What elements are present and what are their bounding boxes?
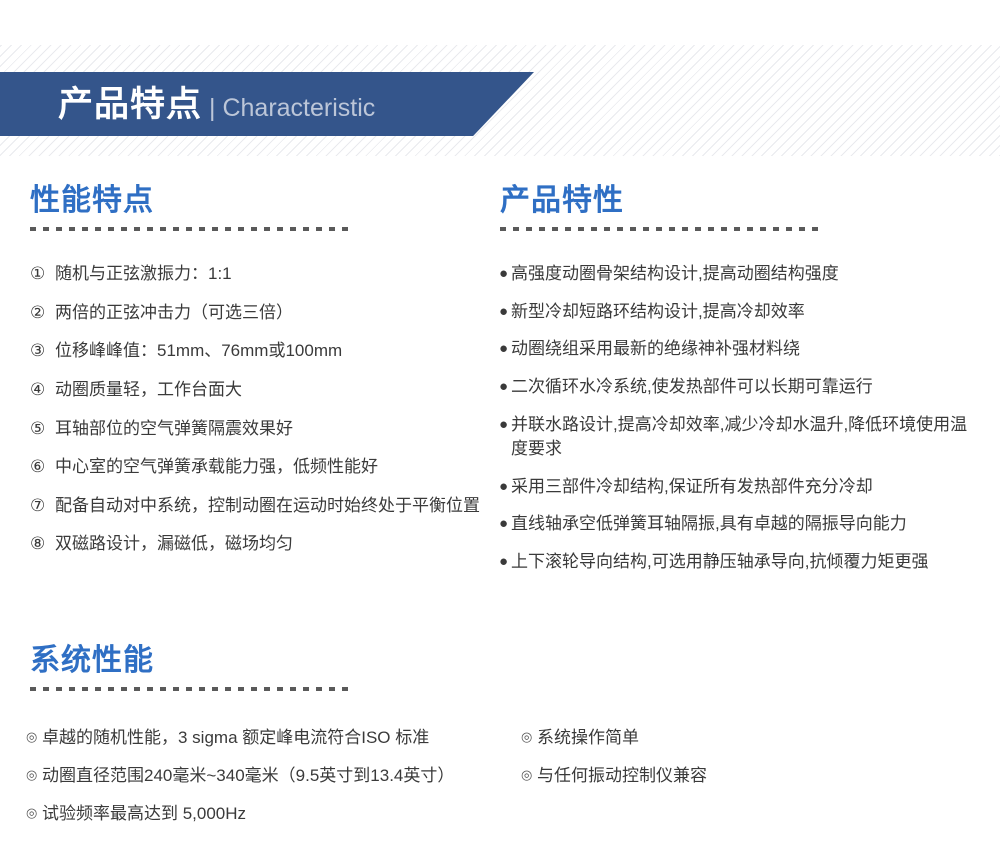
list-marker: ④ (30, 378, 55, 403)
banner-title-group: 产品特点 | Characteristic (0, 87, 375, 122)
list-item: ⑧ 双磁路设计，漏磁低，磁场均匀 (30, 532, 485, 557)
bullet-icon: ● (499, 300, 511, 323)
list-item-text: 位移峰峰值：51mm、76mm或100mm (55, 339, 485, 364)
list-marker: ① (30, 262, 55, 287)
list-item: ② 两倍的正弦冲击力（可选三倍） (30, 301, 485, 326)
list-item-text: 中心室的空气弹簧承载能力强，低频性能好 (55, 455, 485, 480)
list-item-text: 随机与正弦激振力：1:1 (55, 262, 485, 287)
system-performance-list: ◎ 卓越的随机性能，3 sigma 额定峰电流符合ISO 标准 ◎ 系统操作简单… (26, 726, 966, 839)
bullet-icon: ● (499, 550, 511, 573)
list-item-text: 动圈质量轻，工作台面大 (55, 378, 485, 403)
list-item-text: 配备自动对中系统，控制动圈在运动时始终处于平衡位置 (55, 494, 485, 519)
list-item-text: 并联水路设计,提高冷却效率,减少冷却水温升,降低环境使用温度要求 (511, 413, 984, 462)
list-item-text: 两倍的正弦冲击力（可选三倍） (55, 301, 485, 326)
list-row: ◎ 试验频率最高达到 5,000Hz (26, 802, 966, 826)
list-marker: ⑤ (30, 417, 55, 442)
list-item: ◎ 卓越的随机性能，3 sigma 额定峰电流符合ISO 标准 (26, 726, 521, 750)
page-banner: 产品特点 | Characteristic (0, 72, 534, 136)
bullet-icon: ● (499, 262, 511, 285)
list-item-text: 二次循环水冷系统,使发热部件可以长期可靠运行 (511, 375, 984, 400)
product-characteristic-page: 产品特点 | Characteristic 性能特点 ① 随机与正弦激振力：1:… (0, 0, 1000, 866)
section-divider-performance (30, 227, 355, 231)
list-item-text: 上下滚轮导向结构,可选用静压轴承导向,抗倾覆力矩更强 (511, 550, 984, 575)
section-divider-product (500, 227, 825, 231)
list-marker: ⑥ (30, 455, 55, 480)
list-item: ④ 动圈质量轻，工作台面大 (30, 378, 485, 403)
list-item-text: 高强度动圈骨架结构设计,提高动圈结构强度 (511, 262, 984, 287)
list-item: ◎ 系统操作简单 (521, 726, 951, 750)
bullet-icon: ● (499, 413, 511, 436)
list-marker: ② (30, 301, 55, 326)
double-circle-icon: ◎ (521, 764, 537, 787)
double-circle-icon: ◎ (521, 726, 537, 749)
list-item-text: 动圈绕组采用最新的绝缘神补强材料绕 (511, 337, 984, 362)
list-item-text: 新型冷却短路环结构设计,提高冷却效率 (511, 300, 984, 325)
list-item: ● 并联水路设计,提高冷却效率,减少冷却水温升,降低环境使用温度要求 (499, 413, 984, 462)
performance-feature-list: ① 随机与正弦激振力：1:1 ② 两倍的正弦冲击力（可选三倍） ③ 位移峰峰值：… (30, 262, 485, 571)
list-item: ● 新型冷却短路环结构设计,提高冷却效率 (499, 300, 984, 325)
list-row: ◎ 卓越的随机性能，3 sigma 额定峰电流符合ISO 标准 ◎ 系统操作简单 (26, 726, 966, 750)
product-feature-list: ● 高强度动圈骨架结构设计,提高动圈结构强度 ● 新型冷却短路环结构设计,提高冷… (499, 262, 984, 588)
list-item: ③ 位移峰峰值：51mm、76mm或100mm (30, 339, 485, 364)
bullet-icon: ● (499, 475, 511, 498)
double-circle-icon: ◎ (26, 726, 42, 749)
list-item: ● 直线轴承空低弹簧耳轴隔振,具有卓越的隔振导向能力 (499, 512, 984, 537)
section-heading-performance: 性能特点 (30, 186, 154, 216)
list-item-text: 双磁路设计，漏磁低，磁场均匀 (55, 532, 485, 557)
bullet-icon: ● (499, 337, 511, 360)
list-marker: ⑦ (30, 494, 55, 519)
list-item-text: 系统操作简单 (537, 726, 639, 750)
list-marker: ⑧ (30, 532, 55, 557)
list-item: ◎ 动圈直径范围240毫米~340毫米（9.5英寸到13.4英寸） (26, 764, 521, 788)
list-row: ◎ 动圈直径范围240毫米~340毫米（9.5英寸到13.4英寸） ◎ 与任何振… (26, 764, 966, 788)
section-divider-system (30, 687, 355, 691)
double-circle-icon: ◎ (26, 802, 42, 825)
list-item-text: 直线轴承空低弹簧耳轴隔振,具有卓越的隔振导向能力 (511, 512, 984, 537)
list-item: ◎ 与任何振动控制仪兼容 (521, 764, 951, 788)
list-item: ● 上下滚轮导向结构,可选用静压轴承导向,抗倾覆力矩更强 (499, 550, 984, 575)
page-title: 产品特点 (58, 87, 202, 122)
list-item: ● 二次循环水冷系统,使发热部件可以长期可靠运行 (499, 375, 984, 400)
double-circle-icon: ◎ (26, 764, 42, 787)
list-item: ● 高强度动圈骨架结构设计,提高动圈结构强度 (499, 262, 984, 287)
list-item-text: 动圈直径范围240毫米~340毫米（9.5英寸到13.4英寸） (42, 764, 454, 788)
list-item-text: 试验频率最高达到 5,000Hz (42, 802, 246, 826)
list-item: ⑤ 耳轴部位的空气弹簧隔震效果好 (30, 417, 485, 442)
list-item: ① 随机与正弦激振力：1:1 (30, 262, 485, 287)
list-item-text: 采用三部件冷却结构,保证所有发热部件充分冷却 (511, 475, 984, 500)
list-item: ⑦ 配备自动对中系统，控制动圈在运动时始终处于平衡位置 (30, 494, 485, 519)
section-heading-product: 产品特性 (500, 186, 624, 216)
list-item-text: 与任何振动控制仪兼容 (537, 764, 707, 788)
list-item: ⑥ 中心室的空气弹簧承载能力强，低频性能好 (30, 455, 485, 480)
bullet-icon: ● (499, 512, 511, 535)
list-item: ◎ 试验频率最高达到 5,000Hz (26, 802, 521, 826)
list-marker: ③ (30, 339, 55, 364)
list-item: ● 动圈绕组采用最新的绝缘神补强材料绕 (499, 337, 984, 362)
list-item-text: 耳轴部位的空气弹簧隔震效果好 (55, 417, 485, 442)
list-item: ● 采用三部件冷却结构,保证所有发热部件充分冷却 (499, 475, 984, 500)
bullet-icon: ● (499, 375, 511, 398)
list-item-text: 卓越的随机性能，3 sigma 额定峰电流符合ISO 标准 (42, 726, 429, 750)
page-subtitle: | Characteristic (209, 96, 375, 121)
section-heading-system: 系统性能 (30, 646, 154, 676)
